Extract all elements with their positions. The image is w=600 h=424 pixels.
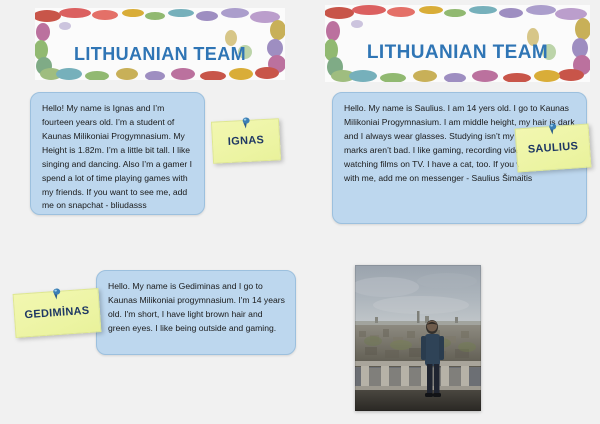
profile-text-gediminas: Hello. My name is Gediminas and I go to … [108, 280, 285, 336]
student-photo [355, 265, 481, 411]
sticky-note-gediminas[interactable]: GEDIMİNAS [13, 288, 102, 338]
sticky-label-gediminas: GEDIMİNAS [24, 305, 90, 322]
profile-bubble-gediminas: Hello. My name is Gediminas and I go to … [96, 270, 296, 355]
banner-left-title: LITHUANIAN TEAM [35, 44, 285, 65]
slide-canvas: LITHUANIAN TEAM [0, 0, 600, 424]
profile-text-ignas: Hello! My name is Ignas and I’m fourteen… [42, 102, 194, 213]
pushpin-icon [545, 122, 559, 136]
banner-right: LITHUANIAN TEAM [325, 5, 590, 82]
banner-left: LITHUANIAN TEAM [35, 8, 285, 80]
pushpin-icon [49, 287, 63, 301]
sticky-note-saulius[interactable]: SAULIUS [515, 123, 592, 172]
photo-graphic [355, 265, 481, 411]
profile-bubble-ignas: Hello! My name is Ignas and I’m fourteen… [30, 92, 205, 215]
sticky-label-ignas: IGNAS [228, 134, 265, 148]
sticky-note-ignas[interactable]: IGNAS [211, 118, 281, 164]
pushpin-icon [239, 116, 253, 130]
sticky-label-saulius: SAULIUS [527, 140, 578, 155]
banner-right-title: LITHUANIAN TEAM [325, 42, 590, 64]
